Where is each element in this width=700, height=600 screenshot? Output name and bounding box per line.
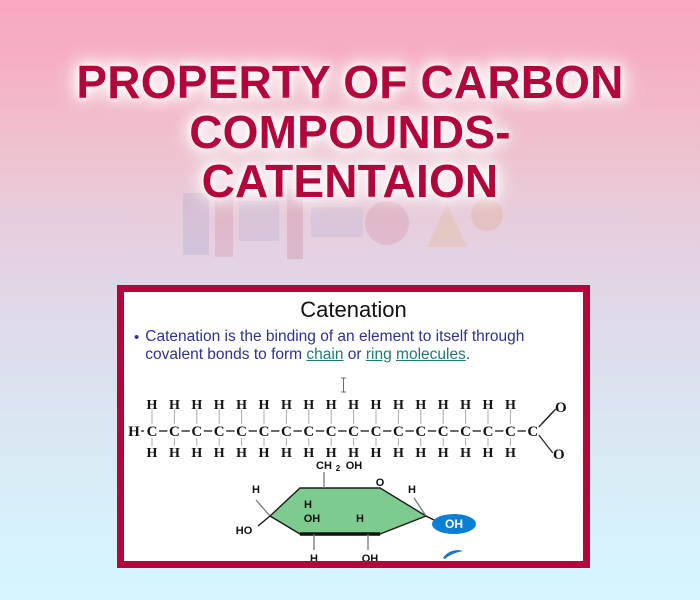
svg-text:H: H xyxy=(348,446,359,461)
label-highlight-oh: OH xyxy=(445,517,463,531)
svg-text:O: O xyxy=(555,400,567,416)
body-segment-2: or xyxy=(343,346,365,363)
svg-text:H: H xyxy=(505,446,516,461)
svg-text:H: H xyxy=(460,446,471,461)
svg-text:C: C xyxy=(259,424,270,440)
svg-text:C: C xyxy=(438,424,449,440)
svg-text:C: C xyxy=(281,424,292,440)
svg-text:H: H xyxy=(483,446,494,461)
svg-text:H: H xyxy=(326,446,337,461)
svg-text:C: C xyxy=(326,424,337,440)
title-line-2: COMPOUNDS- xyxy=(0,108,700,158)
svg-text:H: H xyxy=(214,398,225,413)
svg-text:C: C xyxy=(348,424,359,440)
label-ch2oh: CH xyxy=(316,460,332,472)
svg-text:H: H xyxy=(438,398,449,413)
frame-bottom-bar xyxy=(117,561,590,568)
svg-text:H: H xyxy=(348,398,359,413)
svg-text:H: H xyxy=(259,398,270,413)
svg-text:C: C xyxy=(236,424,247,440)
svg-text:C: C xyxy=(505,424,516,440)
label-inner-h-left: H xyxy=(304,499,312,511)
label-top-right-h: H xyxy=(408,484,416,496)
svg-text:H: H xyxy=(236,398,247,413)
label-inner-oh-left: OH xyxy=(304,513,321,525)
hexagon-ring xyxy=(270,488,426,534)
label-inner-h-right: H xyxy=(356,513,364,525)
bullet-item: • Catenation is the binding of an elemen… xyxy=(134,328,574,364)
title-line-1: PROPERTY OF CARBON xyxy=(0,58,700,108)
label-ho-left: HO xyxy=(236,525,253,537)
svg-text:H: H xyxy=(393,398,404,413)
svg-text:C: C xyxy=(527,424,538,440)
svg-text:H: H xyxy=(438,446,449,461)
svg-text:C: C xyxy=(483,424,494,440)
svg-text:C: C xyxy=(191,424,202,440)
slide-image-frame: Catenation • Catenation is the binding o… xyxy=(117,285,590,568)
svg-text:H: H xyxy=(259,446,270,461)
svg-text:C: C xyxy=(415,424,426,440)
label-ch2oh-sub: 2 xyxy=(336,464,341,473)
svg-text:C: C xyxy=(460,424,471,440)
svg-text:C: C xyxy=(303,424,314,440)
svg-text:H: H xyxy=(147,446,158,461)
svg-text:H: H xyxy=(191,398,202,413)
slide-heading: Catenation xyxy=(124,297,583,323)
svg-text:H: H xyxy=(393,446,404,461)
svg-text:H: H xyxy=(505,398,516,413)
svg-text:H: H xyxy=(191,446,202,461)
svg-text:H: H xyxy=(281,398,292,413)
carbon-chain-formula: HCHHCHHCHHCHHCHHCHHCHHCHHCHHCHHCHHCHHCHH… xyxy=(128,395,583,461)
svg-text:H: H xyxy=(147,398,158,413)
svg-text:H: H xyxy=(483,398,494,413)
svg-text:H: H xyxy=(460,398,471,413)
svg-text:H: H xyxy=(371,446,382,461)
svg-text:C: C xyxy=(371,424,382,440)
label-top-left-h: H xyxy=(252,484,260,496)
svg-text:H: H xyxy=(169,446,180,461)
svg-text:H: H xyxy=(281,446,292,461)
svg-text:H: H xyxy=(326,398,337,413)
svg-text:H: H xyxy=(415,446,426,461)
svg-text:H: H xyxy=(169,398,180,413)
link-molecules[interactable]: molecules xyxy=(396,346,466,363)
glucose-ring-structure: CH 2 OH O H H H OH H HO H OH OH xyxy=(228,460,478,568)
svg-text:H: H xyxy=(415,398,426,413)
slide-content: Catenation • Catenation is the binding o… xyxy=(124,292,583,561)
svg-text:H: H xyxy=(236,446,247,461)
svg-text:H: H xyxy=(128,424,140,440)
link-chain[interactable]: chain xyxy=(306,346,343,363)
svg-text:C: C xyxy=(169,424,180,440)
link-ring[interactable]: ring xyxy=(366,346,392,363)
svg-text:O: O xyxy=(553,447,565,461)
svg-text:H: H xyxy=(303,398,314,413)
label-ring-oxygen: O xyxy=(376,477,385,489)
svg-text:H: H xyxy=(371,398,382,413)
body-segment-4: . xyxy=(466,346,470,363)
title-line-3: CATENTAION xyxy=(0,157,700,207)
svg-text:H: H xyxy=(214,446,225,461)
text-cursor-icon xyxy=(340,377,347,393)
svg-text:C: C xyxy=(147,424,158,440)
bullet-text: Catenation is the binding of an element … xyxy=(145,328,574,364)
svg-text:C: C xyxy=(214,424,225,440)
svg-text:C: C xyxy=(393,424,404,440)
blue-arrow-mark xyxy=(442,548,464,560)
label-ch2oh-oh: OH xyxy=(346,460,363,472)
page-title: PROPERTY OF CARBON COMPOUNDS- CATENTAION xyxy=(0,58,700,207)
bullet-marker-icon: • xyxy=(134,329,139,346)
svg-text:H: H xyxy=(303,446,314,461)
